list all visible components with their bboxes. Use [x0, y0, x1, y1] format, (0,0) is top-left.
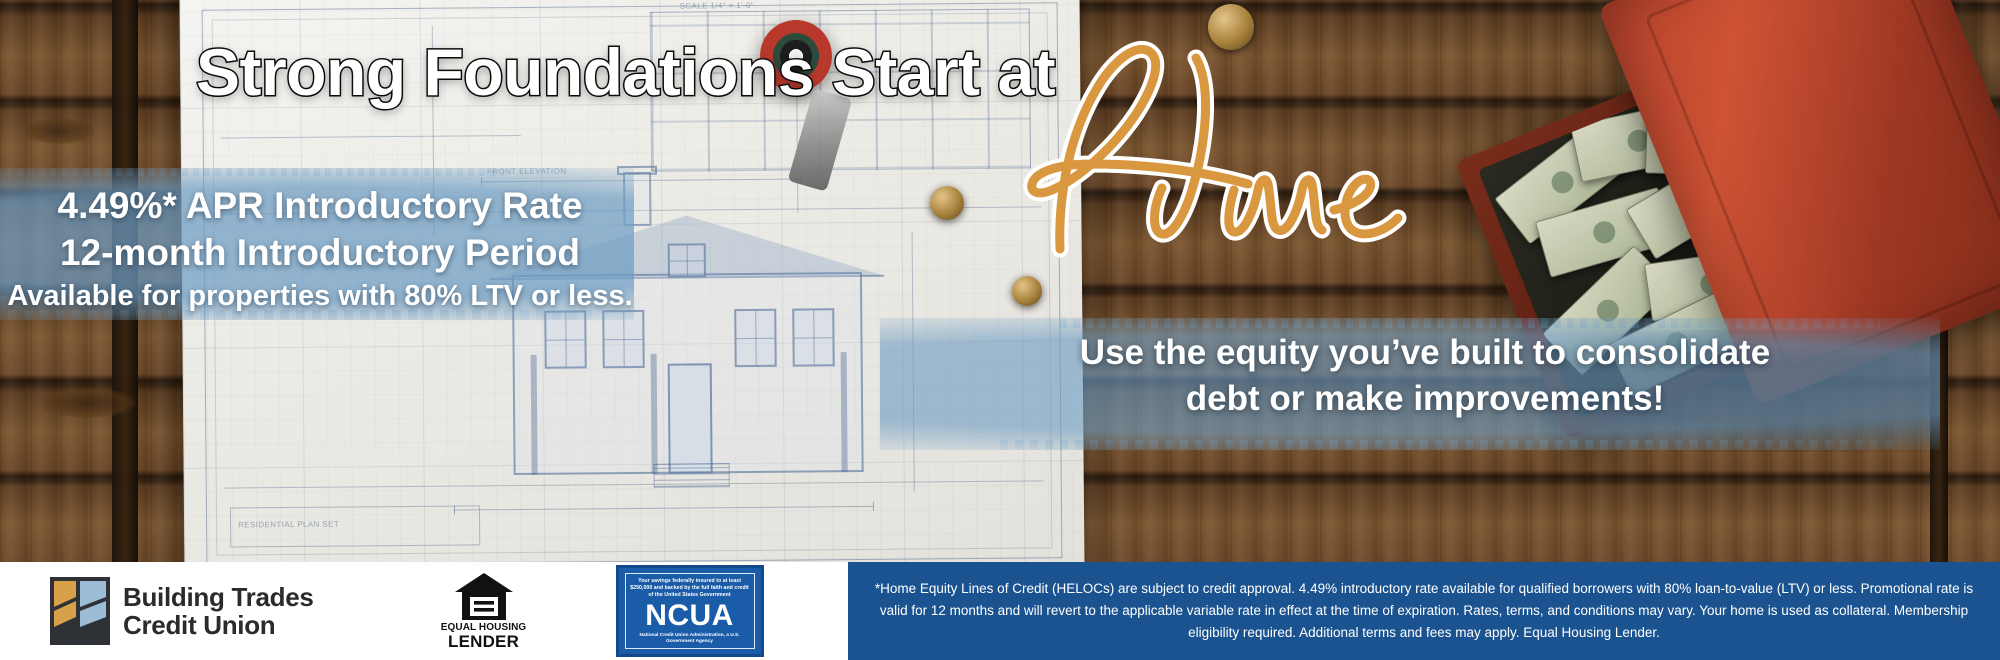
blueprint-title-text: RESIDENTIAL PLAN SET [238, 520, 339, 530]
intro-rate-line: 4.49%* APR Introductory Rate [0, 182, 640, 229]
house-window-dormer [668, 243, 706, 277]
house-door [668, 363, 713, 473]
btcu-name-line1: Building Trades [123, 583, 314, 611]
ncua-agency-bottom-text: National Credit Union Administration, a … [630, 633, 750, 645]
equal-housing-lender-logo: EQUAL HOUSING LENDER [436, 572, 532, 651]
house-window-right [792, 308, 835, 366]
house-porch-column-right [841, 352, 848, 472]
btcu-wordmark: Building Trades Credit Union [123, 583, 314, 639]
house-porch-column-left [531, 355, 538, 475]
ncua-logo: Your savings federally insured to at lea… [616, 565, 764, 657]
toolbox-latch-mid [930, 186, 964, 220]
ncua-wordmark: NCUA [630, 600, 750, 632]
page-title: Strong Foundations Start at [196, 34, 1055, 110]
wood-knot-b [40, 388, 136, 418]
blueprint-note-b: SCALE 1/4" = 1'-0" [680, 1, 755, 11]
house-porch-column-mid [651, 354, 658, 474]
hero-image-area: FRONT ELEVATION SCALE 1/4" = 1'-0" RESID… [0, 0, 2000, 562]
toolbox-latch-bottom [1012, 276, 1042, 306]
equity-message-line1: Use the equity you’ve built to consolida… [880, 330, 1970, 376]
heloc-promo-banner: FRONT ELEVATION SCALE 1/4" = 1'-0" RESID… [0, 0, 2000, 660]
footer-logo-group: Building Trades Credit Union EQUAL HOUSI… [0, 562, 848, 660]
equal-housing-label-line1: EQUAL HOUSING [436, 622, 532, 633]
disclaimer-text: *Home Equity Lines of Credit (HELOCs) ar… [874, 578, 1974, 644]
btcu-chevron-mark-icon [50, 577, 110, 645]
btcu-name-line2: Credit Union [123, 611, 314, 639]
footer-bar: Building Trades Credit Union EQUAL HOUSI… [0, 562, 2000, 660]
equal-housing-label-line2: LENDER [436, 633, 532, 651]
equity-message-line2: debt or make improvements! [880, 376, 1970, 422]
intro-period-line: 12-month Introductory Period [0, 229, 640, 276]
disclaimer-panel: *Home Equity Lines of Credit (HELOCs) ar… [848, 562, 2000, 660]
equal-housing-house-icon [454, 572, 514, 622]
right-callout-text: Use the equity you’ve built to consolida… [880, 330, 1970, 422]
left-callout-text: 4.49%* APR Introductory Rate 12-month In… [0, 182, 640, 316]
ltv-availability-line: Available for properties with 80% LTV or… [0, 277, 640, 316]
house-front-steps [654, 463, 730, 488]
toolbox-latch-top [1208, 4, 1254, 50]
ncua-logo-inner-frame: Your savings federally insured to at lea… [625, 573, 755, 649]
house-window-midright [734, 309, 777, 367]
wood-knot-a [24, 118, 94, 144]
ncua-insurance-top-text: Your savings federally insured to at lea… [630, 578, 750, 599]
building-trades-credit-union-logo[interactable]: Building Trades Credit Union [50, 577, 314, 645]
